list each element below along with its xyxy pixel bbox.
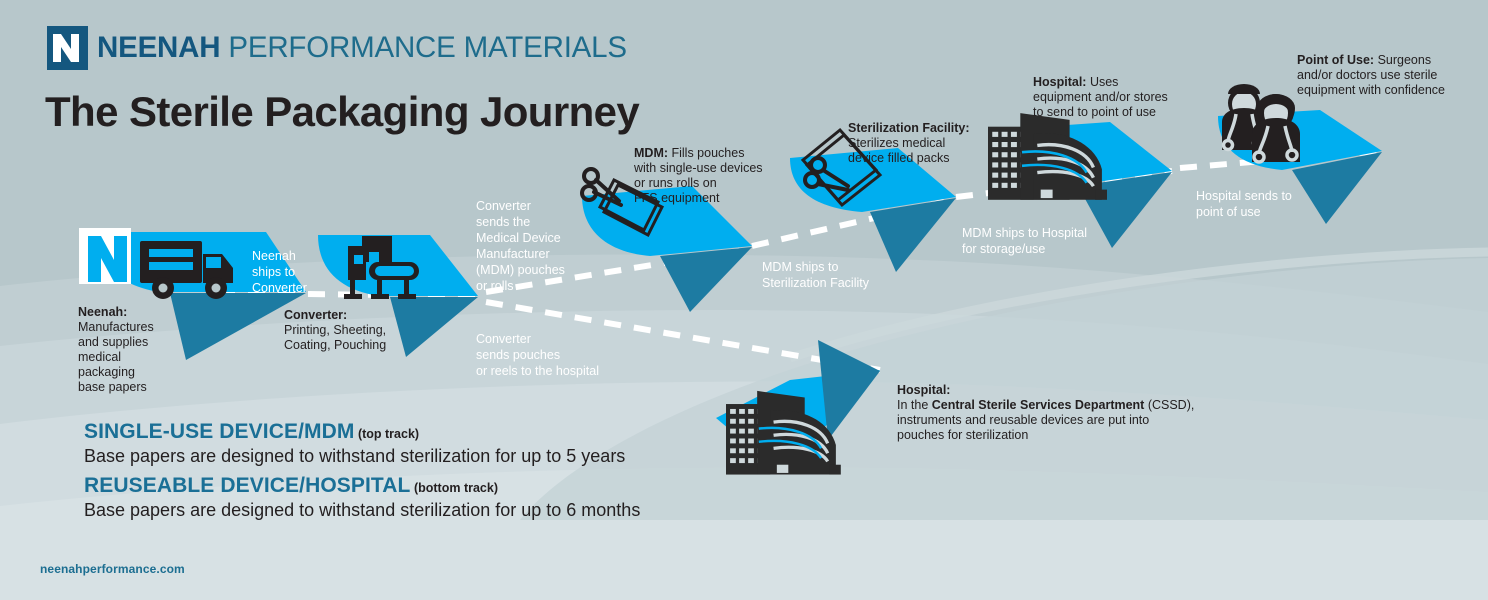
- legend-heading-reuseable-sub: (bottom track): [410, 481, 498, 495]
- connector-label-converter-to-mdm: Converter sends the Medical Device Manuf…: [476, 198, 604, 294]
- legend-heading-reuseable: REUSEABLE DEVICE/HOSPITAL (bottom track): [84, 474, 640, 498]
- step-caption-point-of-use: Point of Use: Surgeons and/or doctors us…: [1297, 53, 1488, 98]
- brand-wordmark: NEENAH PERFORMANCE MATERIALS: [97, 33, 627, 63]
- page-title: The Sterile Packaging Journey: [45, 88, 639, 136]
- legend-heading-reuseable-main: REUSEABLE DEVICE/HOSPITAL: [84, 474, 410, 497]
- step-caption-converter-body: Printing, Sheeting, Coating, Pouching: [284, 323, 386, 352]
- step-caption-sterilization-title: Sterilization Facility:: [848, 121, 970, 135]
- legend-item-single-use-device: SINGLE-USE DEVICE/MDM (top track) Base p…: [84, 420, 625, 468]
- legend-heading-single-use-main: SINGLE-USE DEVICE/MDM: [84, 420, 354, 443]
- step-caption-point-of-use-title: Point of Use:: [1297, 53, 1374, 67]
- connector-label-neenah-to-converter: Neenah ships to Converter: [252, 248, 362, 296]
- step-caption-hospital-top-title: Hospital:: [1033, 75, 1086, 89]
- footer-url[interactable]: neenahperformance.com: [40, 562, 185, 576]
- brand-logo[interactable]: NEENAH PERFORMANCE MATERIALS: [47, 26, 627, 70]
- legend-heading-single-use-sub: (top track): [354, 427, 419, 441]
- step-caption-neenah-title: Neenah:: [78, 305, 127, 319]
- step-caption-converter: Converter: Printing, Sheeting, Coating, …: [284, 308, 464, 353]
- infographic-canvas: NEENAH PERFORMANCE MATERIALS The Sterile…: [0, 0, 1488, 600]
- brand-wordmark-bold: NEENAH: [97, 31, 220, 64]
- step-caption-hospital-cssd: Hospital: In the Central Sterile Service…: [897, 383, 1227, 443]
- banner-fold: [660, 247, 752, 312]
- connector-label-hospital-to-point-of-use: Hospital sends to point of use: [1196, 188, 1376, 220]
- connector-label-sterilization-to-hospital: MDM ships to Hospital for storage/use: [962, 225, 1172, 257]
- brand-wordmark-light: PERFORMANCE MATERIALS: [220, 31, 626, 64]
- step-caption-neenah-body: Manufactures and supplies medical packag…: [78, 320, 154, 394]
- step-caption-mdm: MDM: Fills pouches with single-use devic…: [634, 146, 834, 206]
- step-caption-mdm-title: MDM:: [634, 146, 668, 160]
- step-caption-cssd-line2-bold: Central Sterile Services Department: [932, 398, 1145, 412]
- step-caption-hospital-top: Hospital: Uses equipment and/or stores t…: [1033, 75, 1233, 120]
- step-caption-sterilization: Sterilization Facility: Sterilizes medic…: [848, 121, 1038, 166]
- neenah-logo-mark: [47, 26, 88, 70]
- step-caption-cssd-body: instruments and reusable devices are put…: [897, 413, 1149, 442]
- legend-body-reuseable: Base papers are designed to withstand st…: [84, 500, 640, 522]
- banner-fold: [818, 340, 880, 440]
- step-caption-cssd-line2-post: (CSSD),: [1144, 398, 1194, 412]
- legend-item-reuseable-device: REUSEABLE DEVICE/HOSPITAL (bottom track)…: [84, 474, 640, 522]
- step-caption-converter-title: Converter:: [284, 308, 347, 322]
- connector-label-mdm-to-sterilization: MDM ships to Sterilization Facility: [762, 259, 942, 291]
- connector-label-converter-to-hospital: Converter sends pouches or reels to the …: [476, 331, 696, 379]
- step-caption-neenah: Neenah: Manufactures and supplies medica…: [78, 305, 198, 395]
- neenah-n-mark: [79, 228, 131, 284]
- step-caption-cssd-title: Hospital:: [897, 383, 950, 397]
- legend-heading-single-use: SINGLE-USE DEVICE/MDM (top track): [84, 420, 625, 444]
- logo-n-glyph: [52, 33, 82, 63]
- legend-body-single-use: Base papers are designed to withstand st…: [84, 446, 625, 468]
- step-caption-sterilization-body: Sterilizes medical device filled packs: [848, 136, 949, 165]
- step-caption-cssd-line2-pre: In the: [897, 398, 932, 412]
